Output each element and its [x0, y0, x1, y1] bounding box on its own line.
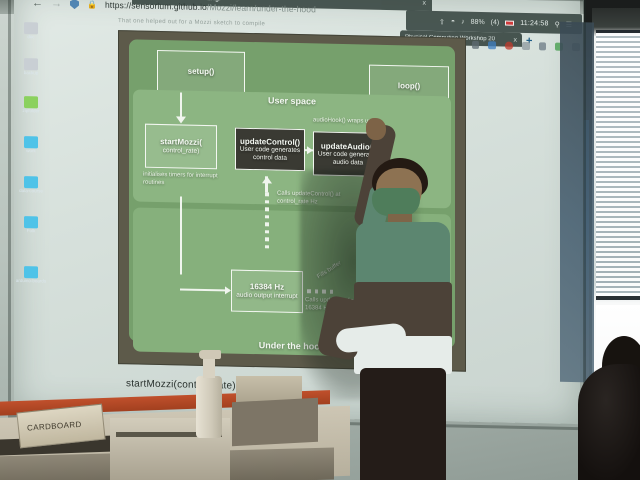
folder-icon — [24, 176, 38, 188]
url-path: /Mozzi/learn/under-the-hood — [207, 2, 316, 14]
classroom-scene: Interactive Products Engi x ← → 🔒 https:… — [0, 0, 640, 480]
desktop-icon-work[interactable]: work — [14, 136, 48, 154]
presenter-trousers — [360, 368, 446, 480]
folder-icon — [24, 216, 38, 228]
system-clock: 11:24:58 — [520, 20, 548, 28]
node-update-control-sub: User code generates control data — [239, 146, 301, 163]
wifi-icon: ◓ — [451, 18, 455, 25]
node-setup: setup() — [157, 50, 245, 94]
cardboard-box-label: CARDBOARD — [27, 420, 82, 433]
presenter-face-mask — [372, 188, 420, 216]
presenter — [340, 130, 460, 480]
arrowhead-control-right — [307, 146, 313, 154]
desktop-icon-label: doc — [14, 35, 48, 40]
hand-sanitizer-bottle — [196, 376, 222, 438]
arrowhead-setup-down — [176, 116, 186, 123]
node-audio-interrupt: 16384 Hz audio output interrupt — [231, 270, 303, 314]
presenter-hand — [366, 118, 386, 140]
desktop-icon-label: Folk — [14, 229, 48, 234]
dot — [265, 230, 269, 234]
monitor-rear — [232, 398, 318, 447]
url-text[interactable]: https://sensorium.github.io/Mozzi/learn/… — [105, 0, 316, 14]
document-icon — [24, 22, 38, 34]
forward-arrow-icon: → — [51, 0, 62, 10]
dot — [265, 245, 269, 249]
node-audio-interrupt-sub: audio output interrupt — [236, 292, 297, 301]
url-scheme: https:// — [105, 0, 131, 10]
battery-percent-label: 88% — [471, 19, 485, 26]
desktop-icon-zipfolder[interactable]: zipfolder — [14, 96, 48, 114]
desktop-icon-label: work — [14, 149, 48, 154]
connector-calls-control-stem — [265, 176, 268, 192]
dot — [265, 222, 269, 226]
document-icon — [24, 58, 38, 70]
lock-icon: 🔒 — [87, 0, 97, 9]
url-host: sensorium.github.io — [131, 0, 207, 12]
shield-ext-icon[interactable] — [505, 42, 513, 50]
window-blinds — [596, 30, 640, 300]
desktop-icon-data-course[interactable]: data-course — [14, 176, 48, 194]
caption-init-timers: initialises timers for interrupt routine… — [143, 172, 219, 189]
refresh-icon[interactable] — [472, 41, 480, 49]
desktop-icon-label: arduino-boards — [14, 279, 48, 284]
node-start-mozzi: startMozzi( control_rate) — [145, 124, 217, 170]
puzzle-icon[interactable] — [539, 42, 547, 50]
projected-screen: Interactive Products Engi x ← → 🔒 https:… — [14, 0, 580, 424]
desktop-icon-arduino-boards[interactable]: arduino-boards — [14, 266, 48, 284]
desktop-icon-label: zipfolder — [14, 109, 48, 114]
desktop-icon-folk[interactable]: Folk — [14, 216, 48, 234]
desktop-icon-label: backup — [14, 71, 48, 76]
dotted-calls-control — [265, 192, 269, 248]
browser-url-bar[interactable]: ← → 🔒 https://sensorium.github.io/Mozzi/… — [32, 0, 412, 21]
dot — [265, 207, 269, 211]
hand-sanitizer-pump — [199, 350, 221, 359]
shield-icon[interactable] — [70, 0, 79, 9]
folder-icon — [24, 266, 38, 278]
connector-startmozzi-down — [180, 196, 182, 274]
keyboard-flag-icon — [505, 21, 514, 26]
desktop-icon-label: data-course — [14, 189, 48, 194]
desktop-icon-column — [560, 22, 594, 383]
dot — [265, 200, 269, 204]
node-start-mozzi-sub: control_rate) — [163, 147, 200, 155]
volume-icon: ♪ — [461, 19, 465, 26]
dot — [265, 192, 269, 196]
desktop-icon-doc[interactable]: doc — [14, 22, 48, 40]
search-icon[interactable]: ⚲ — [555, 20, 560, 28]
node-loop-label: loop() — [398, 81, 420, 91]
dot — [265, 237, 269, 241]
node-setup-label: setup() — [188, 67, 215, 77]
connector-setup-to-startmozzi — [180, 92, 182, 118]
archive-icon — [24, 96, 38, 108]
arrowhead-interrupt-right — [225, 286, 231, 294]
grid-icon[interactable] — [522, 42, 530, 50]
download-icon[interactable] — [488, 41, 496, 49]
tab-close-icon[interactable]: x — [423, 0, 427, 6]
desktop-icon-backup[interactable]: backup — [14, 58, 48, 76]
dot — [265, 215, 269, 219]
foreground-person-shoulder — [578, 364, 640, 480]
battery-state-label: (4) — [491, 19, 500, 26]
folder-icon — [24, 136, 38, 148]
node-update-control: updateControl() User code generates cont… — [235, 128, 305, 172]
hand-sanitizer-neck — [203, 356, 215, 378]
back-arrow-icon[interactable]: ← — [32, 0, 43, 9]
